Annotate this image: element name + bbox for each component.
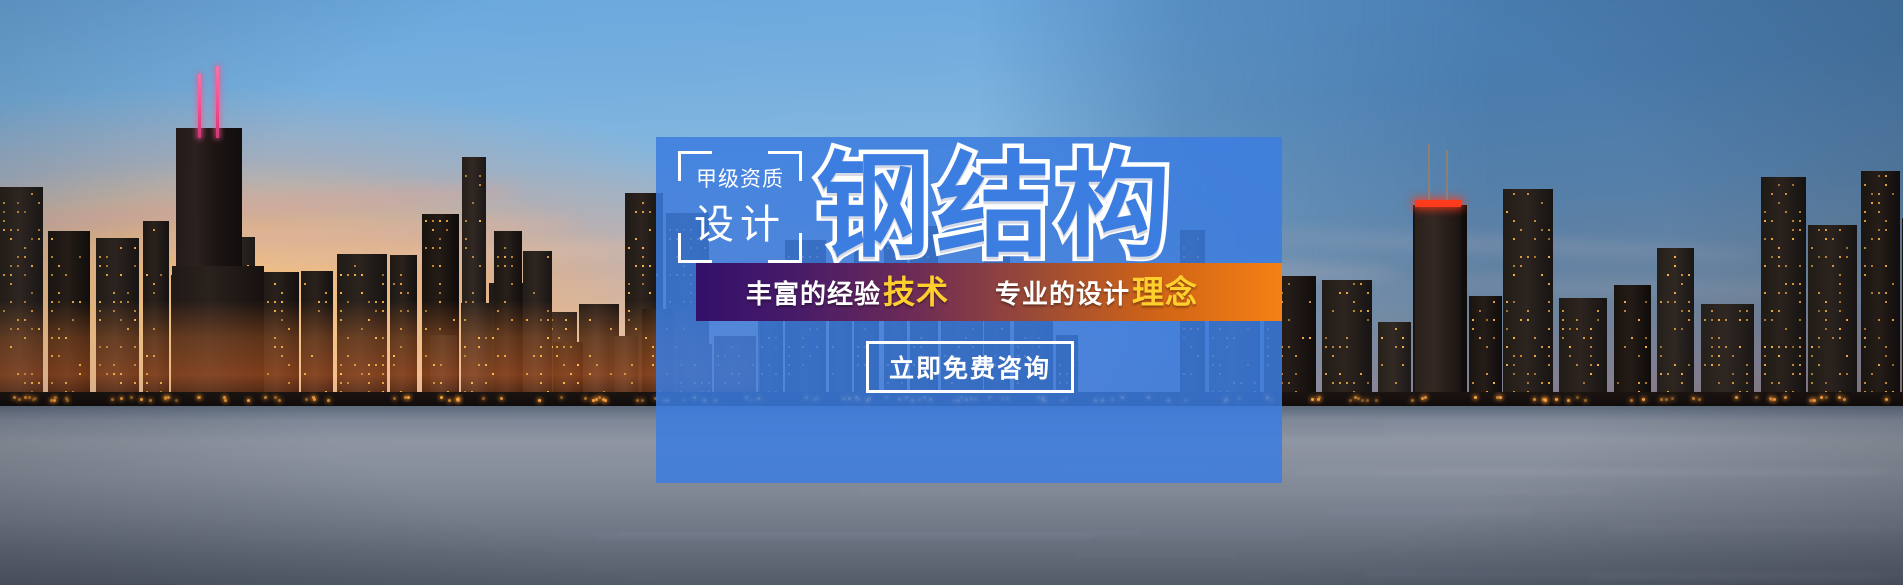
window-light [1785,193,1787,195]
window-light [24,256,26,258]
window-light [79,301,81,303]
street-light [457,399,460,402]
window-light [1811,346,1813,348]
street-light [538,399,541,402]
water-reflection [136,462,438,465]
window-light [1674,328,1676,330]
window-light [382,274,384,276]
window-light [1295,373,1297,375]
window-light [382,373,384,375]
window-light [1548,382,1550,384]
window-light [1332,355,1334,357]
window-light [1513,337,1515,339]
window-light [318,301,320,303]
window-light [1527,373,1529,375]
street-light [1665,398,1668,401]
window-light [99,265,101,267]
window-light [10,238,12,240]
window-light [1764,220,1766,222]
window-light [375,364,377,366]
window-light [1506,211,1508,213]
window-light [1825,238,1827,240]
window-light [10,229,12,231]
window-light [347,382,349,384]
window-light [1885,265,1887,267]
window-light [1878,292,1880,294]
window-light [464,319,466,321]
window-light [1732,355,1734,357]
window-light [1885,220,1887,222]
street-light [167,396,170,399]
window-light [1645,382,1647,384]
window-light [120,319,122,321]
window-light [1711,337,1713,339]
window-light [58,355,60,357]
window-light [645,337,647,339]
street-light [28,396,31,399]
window-light [1892,283,1894,285]
window-light [1885,292,1887,294]
window-light [281,310,283,312]
window-light [440,382,442,384]
street-light [1317,398,1320,401]
window-light [51,310,53,312]
qualification-badge: 甲级资质 设计 [678,151,802,263]
water-reflection [1327,511,1531,514]
window-light [1681,274,1683,276]
water-reflection [1198,418,1903,421]
window-light [1892,319,1894,321]
window-light [1718,355,1720,357]
qualification-label: 甲级资质 [678,169,802,190]
window-light [1309,301,1311,303]
street-light [312,396,315,399]
window-light [1799,373,1801,375]
window-light [31,310,33,312]
window-light [1818,310,1820,312]
window-light [1332,310,1334,312]
street-light [197,396,200,399]
window-light [72,319,74,321]
window-light [1681,310,1683,312]
window-light [1597,310,1599,312]
window-light [1718,346,1720,348]
street-light [327,399,330,402]
street-light [1411,399,1414,402]
window-light [1839,337,1841,339]
window-light [1864,220,1866,222]
window-light [1825,319,1827,321]
window-light [1725,346,1727,348]
street-light [1533,398,1536,401]
window-light [1548,301,1550,303]
window-light [382,382,384,384]
window-light [1381,364,1383,366]
window-light [1799,283,1801,285]
window-light [1704,319,1706,321]
street-light [1660,398,1663,401]
window-light [1541,229,1543,231]
window-light [134,346,136,348]
street-light [1698,398,1701,401]
window-light [51,238,53,240]
window-light [1811,265,1813,267]
window-light [1885,346,1887,348]
window-light [1799,211,1801,213]
window-light [1792,238,1794,240]
window-light [407,310,409,312]
window-light [1711,346,1713,348]
window-light [31,382,33,384]
window-light [425,310,427,312]
street-light [1642,398,1645,401]
window-light [311,355,313,357]
window-light [1839,292,1841,294]
window-light [1353,301,1355,303]
window-light [1562,319,1564,321]
window-light [79,373,81,375]
window-light [540,373,542,375]
water-reflection [595,535,1092,538]
building [494,231,521,406]
service-label: 设计 [678,205,802,245]
street-light [598,396,601,399]
window-light [1811,373,1813,375]
window-light [38,202,40,204]
window-light [1688,364,1690,366]
willis-antenna [216,66,219,138]
window-light [340,310,342,312]
window-light [1681,328,1683,330]
window-light [624,373,626,375]
window-light [1839,328,1841,330]
window-light [51,337,53,339]
window-light [1674,364,1676,366]
window-light [1771,193,1773,195]
window-light [1288,346,1290,348]
window-light [1792,373,1794,375]
window-light [1660,346,1662,348]
window-light [400,274,402,276]
window-light [556,355,558,357]
street-light [130,396,133,399]
window-light [1638,382,1640,384]
window-light [540,346,542,348]
window-light [31,265,33,267]
window-light [354,274,356,276]
window-light [51,301,53,303]
window-light [120,373,122,375]
window-light [1520,265,1522,267]
window-light [1360,310,1362,312]
building [1808,225,1857,406]
window-light [382,310,384,312]
window-light [325,292,327,294]
window-light [325,301,327,303]
window-light [1778,355,1780,357]
window-light [51,274,53,276]
window-light [375,337,377,339]
window-light [1864,337,1866,339]
window-light [1885,229,1887,231]
building [337,254,386,406]
window-light [1871,292,1873,294]
window-light [1624,310,1626,312]
window-light [1746,364,1748,366]
street-light [175,399,178,402]
street-light [224,399,227,402]
window-light [1590,328,1592,330]
street-light [1784,396,1787,399]
free-consultation-button[interactable]: 立即免费咨询 [866,341,1074,393]
window-light [1792,346,1794,348]
window-light [540,355,542,357]
window-light [1785,211,1787,213]
window-light [652,346,654,348]
window-light [38,328,40,330]
window-light [540,382,542,384]
window-light [1339,373,1341,375]
window-light [1541,346,1543,348]
window-light [1764,265,1766,267]
window-light [1785,292,1787,294]
window-light [1541,382,1543,384]
window-light [1785,283,1787,285]
window-light [382,337,384,339]
window-light [106,346,108,348]
window-light [1764,319,1766,321]
feature-highlight: 理念 [1132,276,1198,308]
window-light [563,382,565,384]
window-light [1799,292,1801,294]
window-light [281,355,283,357]
street-light [13,396,16,399]
building [1322,280,1372,406]
window-light [1513,301,1515,303]
street-light [66,399,69,402]
window-light [1534,373,1536,375]
window-light [511,319,513,321]
window-light [106,256,108,258]
window-light [288,328,290,330]
window-light [425,220,427,222]
window-light [1711,364,1713,366]
street-light [1811,399,1814,402]
window-light [3,220,5,222]
street-light [641,399,644,402]
window-light [1878,175,1880,177]
street-light [278,399,281,402]
window-light [134,382,136,384]
window-light [3,310,5,312]
street-light [1630,399,1633,402]
window-light [1711,355,1713,357]
window-light [1878,211,1880,213]
window-light [1864,211,1866,213]
window-light [577,364,579,366]
window-light [1825,256,1827,258]
water-reflection [1451,507,1903,510]
window-light [274,346,276,348]
window-light [440,364,442,366]
window-light [1569,355,1571,357]
window-light [304,283,306,285]
window-light [38,229,40,231]
window-light [1846,373,1848,375]
window-light [1660,301,1662,303]
window-light [1597,319,1599,321]
window-light [1638,319,1640,321]
window-light [1493,382,1495,384]
window-light [1864,247,1866,249]
window-light [106,274,108,276]
window-light [577,382,579,384]
window-light [1818,256,1820,258]
window-light [24,211,26,213]
window-light [1764,373,1766,375]
window-light [596,364,598,366]
window-light [58,301,60,303]
window-light [1562,337,1564,339]
window-light [1792,229,1794,231]
window-light [393,283,395,285]
window-light [1732,373,1734,375]
building [301,271,332,406]
window-light [1506,364,1508,366]
window-light [563,346,565,348]
window-light [1534,355,1536,357]
window-light [1764,292,1766,294]
window-light [1486,373,1488,375]
water-reflection [240,535,383,538]
window-light [354,364,356,366]
window-light [1832,238,1834,240]
window-light [1520,319,1522,321]
window-light [1778,292,1780,294]
window-light [1771,310,1773,312]
window-light [1792,220,1794,222]
window-light [3,202,5,204]
window-light [51,382,53,384]
window-light [10,283,12,285]
window-light [1818,337,1820,339]
street-light [1671,397,1674,400]
feature-highlight: 技术 [883,276,949,308]
window-light [160,382,162,384]
window-light [17,256,19,258]
window-light [318,310,320,312]
window-light [497,265,499,267]
window-light [99,364,101,366]
window-light [120,382,122,384]
window-light [1486,319,1488,321]
window-light [1534,238,1536,240]
window-light [274,283,276,285]
window-light [1674,265,1676,267]
window-light [1506,310,1508,312]
window-light [400,283,402,285]
window-light [570,373,572,375]
street-light [1838,396,1841,399]
window-light [1799,220,1801,222]
window-light [65,382,67,384]
window-light [433,364,435,366]
window-light [1645,301,1647,303]
window-light [1811,382,1813,384]
window-light [106,373,108,375]
window-light [504,265,506,267]
window-light [1513,220,1515,222]
window-light [1885,382,1887,384]
window-light [1871,238,1873,240]
window-light [375,301,377,303]
window-light [72,301,74,303]
window-light [589,373,591,375]
window-light [1288,382,1290,384]
hancock-antenna [1446,150,1448,200]
window-light [113,310,115,312]
street-light [1421,397,1424,400]
window-light [1367,382,1369,384]
window-light [1839,283,1841,285]
window-light [1520,256,1522,258]
window-light [1513,193,1515,195]
window-light [1548,346,1550,348]
water-reflection [206,453,343,456]
window-light [1818,229,1820,231]
window-light [547,337,549,339]
water-reflection [1383,424,1903,427]
hancock-crown-light [1415,200,1461,207]
window-light [400,310,402,312]
window-light [288,364,290,366]
window-light [1674,256,1676,258]
window-light [340,373,342,375]
window-light [1811,247,1813,249]
building [1657,248,1694,406]
window-light [1885,301,1887,303]
water-reflection [1429,438,1806,441]
street-light [1424,396,1427,399]
window-light [134,310,136,312]
window-light [1764,238,1766,240]
window-light [127,292,129,294]
window-light [497,355,499,357]
window-light [1346,382,1348,384]
window-light [361,292,363,294]
street-light [1735,396,1738,399]
window-light [471,382,473,384]
window-light [1818,346,1820,348]
window-light [1825,310,1827,312]
window-light [1638,355,1640,357]
window-light [1799,265,1801,267]
window-light [547,256,549,258]
window-light [1688,301,1690,303]
window-light [1832,337,1834,339]
window-light [511,283,513,285]
street-light [18,398,21,401]
window-light [1576,319,1578,321]
window-light [1764,211,1766,213]
window-light [1688,319,1690,321]
window-light [1718,319,1720,321]
window-light [547,319,549,321]
window-light [1548,283,1550,285]
window-light [382,301,384,303]
building [523,251,552,406]
window-light [382,364,384,366]
